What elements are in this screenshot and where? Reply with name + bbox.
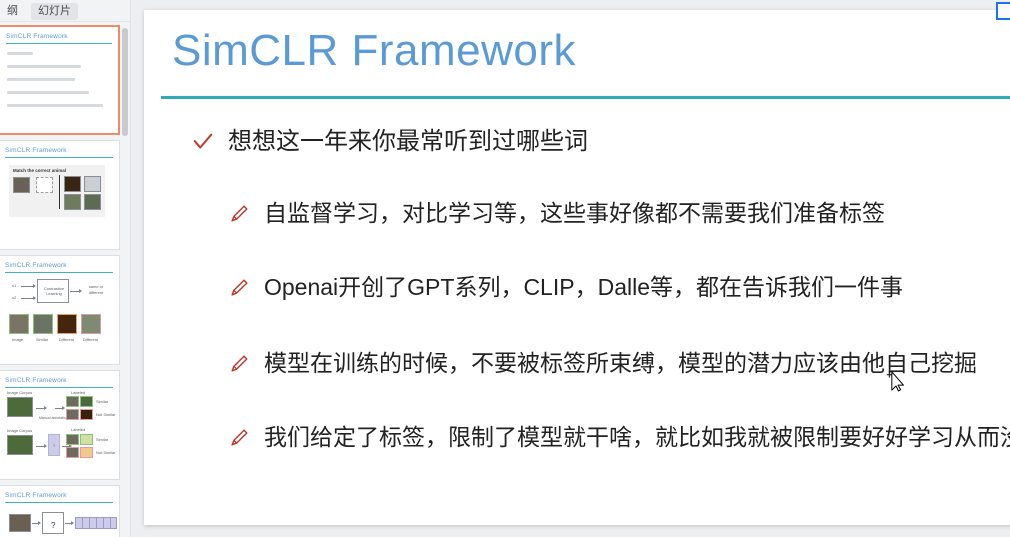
thumbnail-text-line — [7, 78, 75, 81]
thumbnail-caption: Not Similar — [96, 450, 116, 455]
selection-handle-box[interactable] — [996, 2, 1010, 20]
slide-bullet-text: Openai开创了GPT系列，CLIP，Dalle等，都在告诉我们一件事 — [264, 274, 903, 302]
thumbnail-art: x1 x2 Contrastive Learning same or diffe… — [0, 276, 119, 362]
slide-title[interactable]: SimCLR Framework — [172, 28, 576, 74]
thumbnail-image — [66, 396, 79, 407]
thumbnail-image — [66, 447, 79, 458]
thumbnail-image — [7, 435, 33, 455]
slide-thumbnail-1[interactable]: SimCLR Framework — [0, 25, 120, 135]
thumbnail-caption: Image — [12, 337, 23, 342]
thumbnail-image — [9, 314, 29, 334]
slide-bullet-4[interactable]: 模型在训练的时候，不要被标签所束缚，模型的潜力应该由他自己挖掘 — [228, 350, 977, 378]
slides-sidebar: 纲 幻灯片 SimCLR Framework SimCLR Framework … — [0, 0, 131, 537]
thumbnail-list[interactable]: SimCLR Framework SimCLR Framework Match … — [0, 23, 131, 537]
thumbnail-image — [80, 409, 93, 420]
thumbnail-arrow — [70, 291, 81, 292]
thumbnail-vector-tick — [82, 517, 83, 529]
thumbnail-image — [66, 409, 79, 420]
slide-bullet-text: 想想这一年来你最常听到过哪些词 — [228, 128, 588, 157]
thumbnail-box-label: Contrastive Learning — [40, 287, 68, 297]
pencil-icon — [228, 353, 250, 375]
thumbnail-title: SimCLR Framework — [6, 33, 68, 40]
thumbnail-arrow — [55, 408, 64, 409]
thumbnail-label: Manual annotation — [39, 416, 68, 420]
thumbnail-rule — [5, 157, 113, 158]
sidebar-scrollbar-thumb[interactable] — [122, 28, 128, 136]
thumbnail-art: ? — [0, 510, 119, 537]
thumbnail-image — [80, 434, 93, 445]
thumbnail-title: SimCLR Framework — [5, 492, 67, 499]
thumbnail-image — [9, 514, 31, 532]
slide-thumbnail-4[interactable]: SimCLR Framework Image Corpus Manual ann… — [0, 370, 120, 480]
thumbnail-dropzone — [36, 177, 53, 193]
thumbnail-divider — [59, 175, 60, 209]
sidebar-tabbar: 纲 幻灯片 — [0, 0, 131, 22]
thumbnail-image — [7, 397, 33, 417]
slide-bullet-text: 自监督学习，对比学习等，这些事好像都不需要我们准备标签 — [264, 200, 885, 228]
thumbnail-text-line — [7, 65, 81, 68]
thumbnail-label: Labeled — [71, 427, 85, 432]
pencil-icon — [228, 427, 250, 449]
thumbnail-caption: Match the correct animal — [13, 168, 66, 173]
thumbnail-art: Image Corpus Manual annotation Labeled S… — [0, 390, 119, 478]
slide-bullet-3[interactable]: Openai开创了GPT系列，CLIP，Dalle等，都在告诉我们一件事 — [228, 274, 903, 302]
thumbnail-caption: Similar — [96, 399, 108, 404]
thumbnail-box-label: ? — [51, 521, 55, 530]
thumbnail-caption: Not Similar — [96, 412, 116, 417]
thumbnail-input-label: x2 — [12, 295, 16, 300]
slide-stage: SimCLR Framework 想想这一年来你最常听到过哪些词 自监督学习，对… — [131, 0, 1010, 537]
pencil-icon — [228, 203, 250, 225]
thumbnail-image — [64, 194, 81, 210]
slide-thumbnail-3[interactable]: SimCLR Framework x1 x2 Contrastive Learn… — [0, 255, 120, 365]
thumbnail-art: Match the correct animal — [9, 165, 105, 217]
thumbnail-rule — [5, 387, 113, 388]
thumbnail-vector-tick — [103, 517, 104, 529]
thumbnail-arrow — [36, 408, 46, 409]
tab-outline[interactable]: 纲 — [0, 3, 25, 20]
thumbnail-image — [13, 177, 30, 193]
thumbnail-input-label: x1 — [12, 283, 16, 288]
thumbnail-title: SimCLR Framework — [5, 147, 67, 154]
thumbnail-arrow — [32, 523, 40, 524]
title-underline — [161, 96, 1010, 99]
thumbnail-text-line — [7, 91, 89, 94]
thumbnail-arrow — [36, 446, 46, 447]
thumbnail-image — [57, 314, 77, 334]
thumbnail-vector-tick — [96, 517, 97, 529]
thumbnail-image — [33, 314, 53, 334]
thumbnail-caption: Similar — [96, 437, 108, 442]
thumbnail-title: SimCLR Framework — [5, 262, 67, 269]
slide-bullet-text: 我们给定了标签，限制了模型就干啥，就比如我就被限制要好好学习从而没 — [264, 424, 1010, 452]
thumbnail-caption: Different — [59, 337, 74, 342]
thumbnail-title: SimCLR Framework — [5, 377, 67, 384]
thumbnail-process-box: Contrastive Learning — [37, 279, 69, 303]
slide-bullet-text: 模型在训练的时候，不要被标签所束缚，模型的潜力应该由他自己挖掘 — [264, 350, 977, 378]
thumbnail-image — [84, 194, 101, 210]
thumbnail-arrow — [21, 286, 35, 287]
thumbnail-label: Image Corpus — [7, 390, 32, 395]
thumbnail-output-label: same or different — [83, 284, 109, 295]
thumbnail-rule — [5, 502, 113, 503]
slide-thumbnail-2[interactable]: SimCLR Framework Match the correct anima… — [0, 140, 120, 250]
check-icon — [192, 131, 214, 153]
thumbnail-arrow — [21, 298, 35, 299]
thumbnail-vector-tick — [89, 517, 90, 529]
thumbnail-vector-tick — [110, 517, 111, 529]
thumbnail-text-line — [7, 104, 103, 107]
slide-bullet-5[interactable]: 我们给定了标签，限制了模型就干啥，就比如我就被限制要好好学习从而没 — [228, 424, 1010, 452]
thumbnail-image — [66, 434, 79, 445]
thumbnail-caption: Similar — [36, 337, 48, 342]
thumbnail-label: Labeled — [71, 390, 85, 395]
thumbnail-rule — [6, 43, 112, 44]
thumbnail-process-box: ? — [48, 434, 60, 456]
move-cursor — [886, 370, 906, 392]
thumbnail-box-label: ? — [53, 443, 55, 448]
thumbnail-text-line — [7, 52, 33, 55]
slide-bullet-1[interactable]: 想想这一年来你最常听到过哪些词 — [192, 128, 588, 157]
slide-thumbnail-5[interactable]: SimCLR Framework ? — [0, 485, 120, 537]
tab-slides[interactable]: 幻灯片 — [31, 3, 78, 20]
thumbnail-caption: Different — [83, 337, 98, 342]
thumbnail-process-box: ? — [42, 512, 64, 534]
tabbar-divider — [0, 21, 131, 22]
thumbnail-image — [81, 314, 101, 334]
thumbnail-image — [84, 176, 101, 192]
slide-bullet-2[interactable]: 自监督学习，对比学习等，这些事好像都不需要我们准备标签 — [228, 200, 885, 228]
thumbnail-label: Image Corpus — [7, 428, 32, 433]
slide-canvas[interactable]: SimCLR Framework 想想这一年来你最常听到过哪些词 自监督学习，对… — [144, 10, 1010, 525]
thumbnail-image — [80, 396, 93, 407]
thumbnail-image — [80, 447, 93, 458]
thumbnail-rule — [5, 272, 113, 273]
thumbnail-arrow — [65, 523, 73, 524]
pencil-icon — [228, 277, 250, 299]
thumbnail-image — [64, 176, 81, 192]
